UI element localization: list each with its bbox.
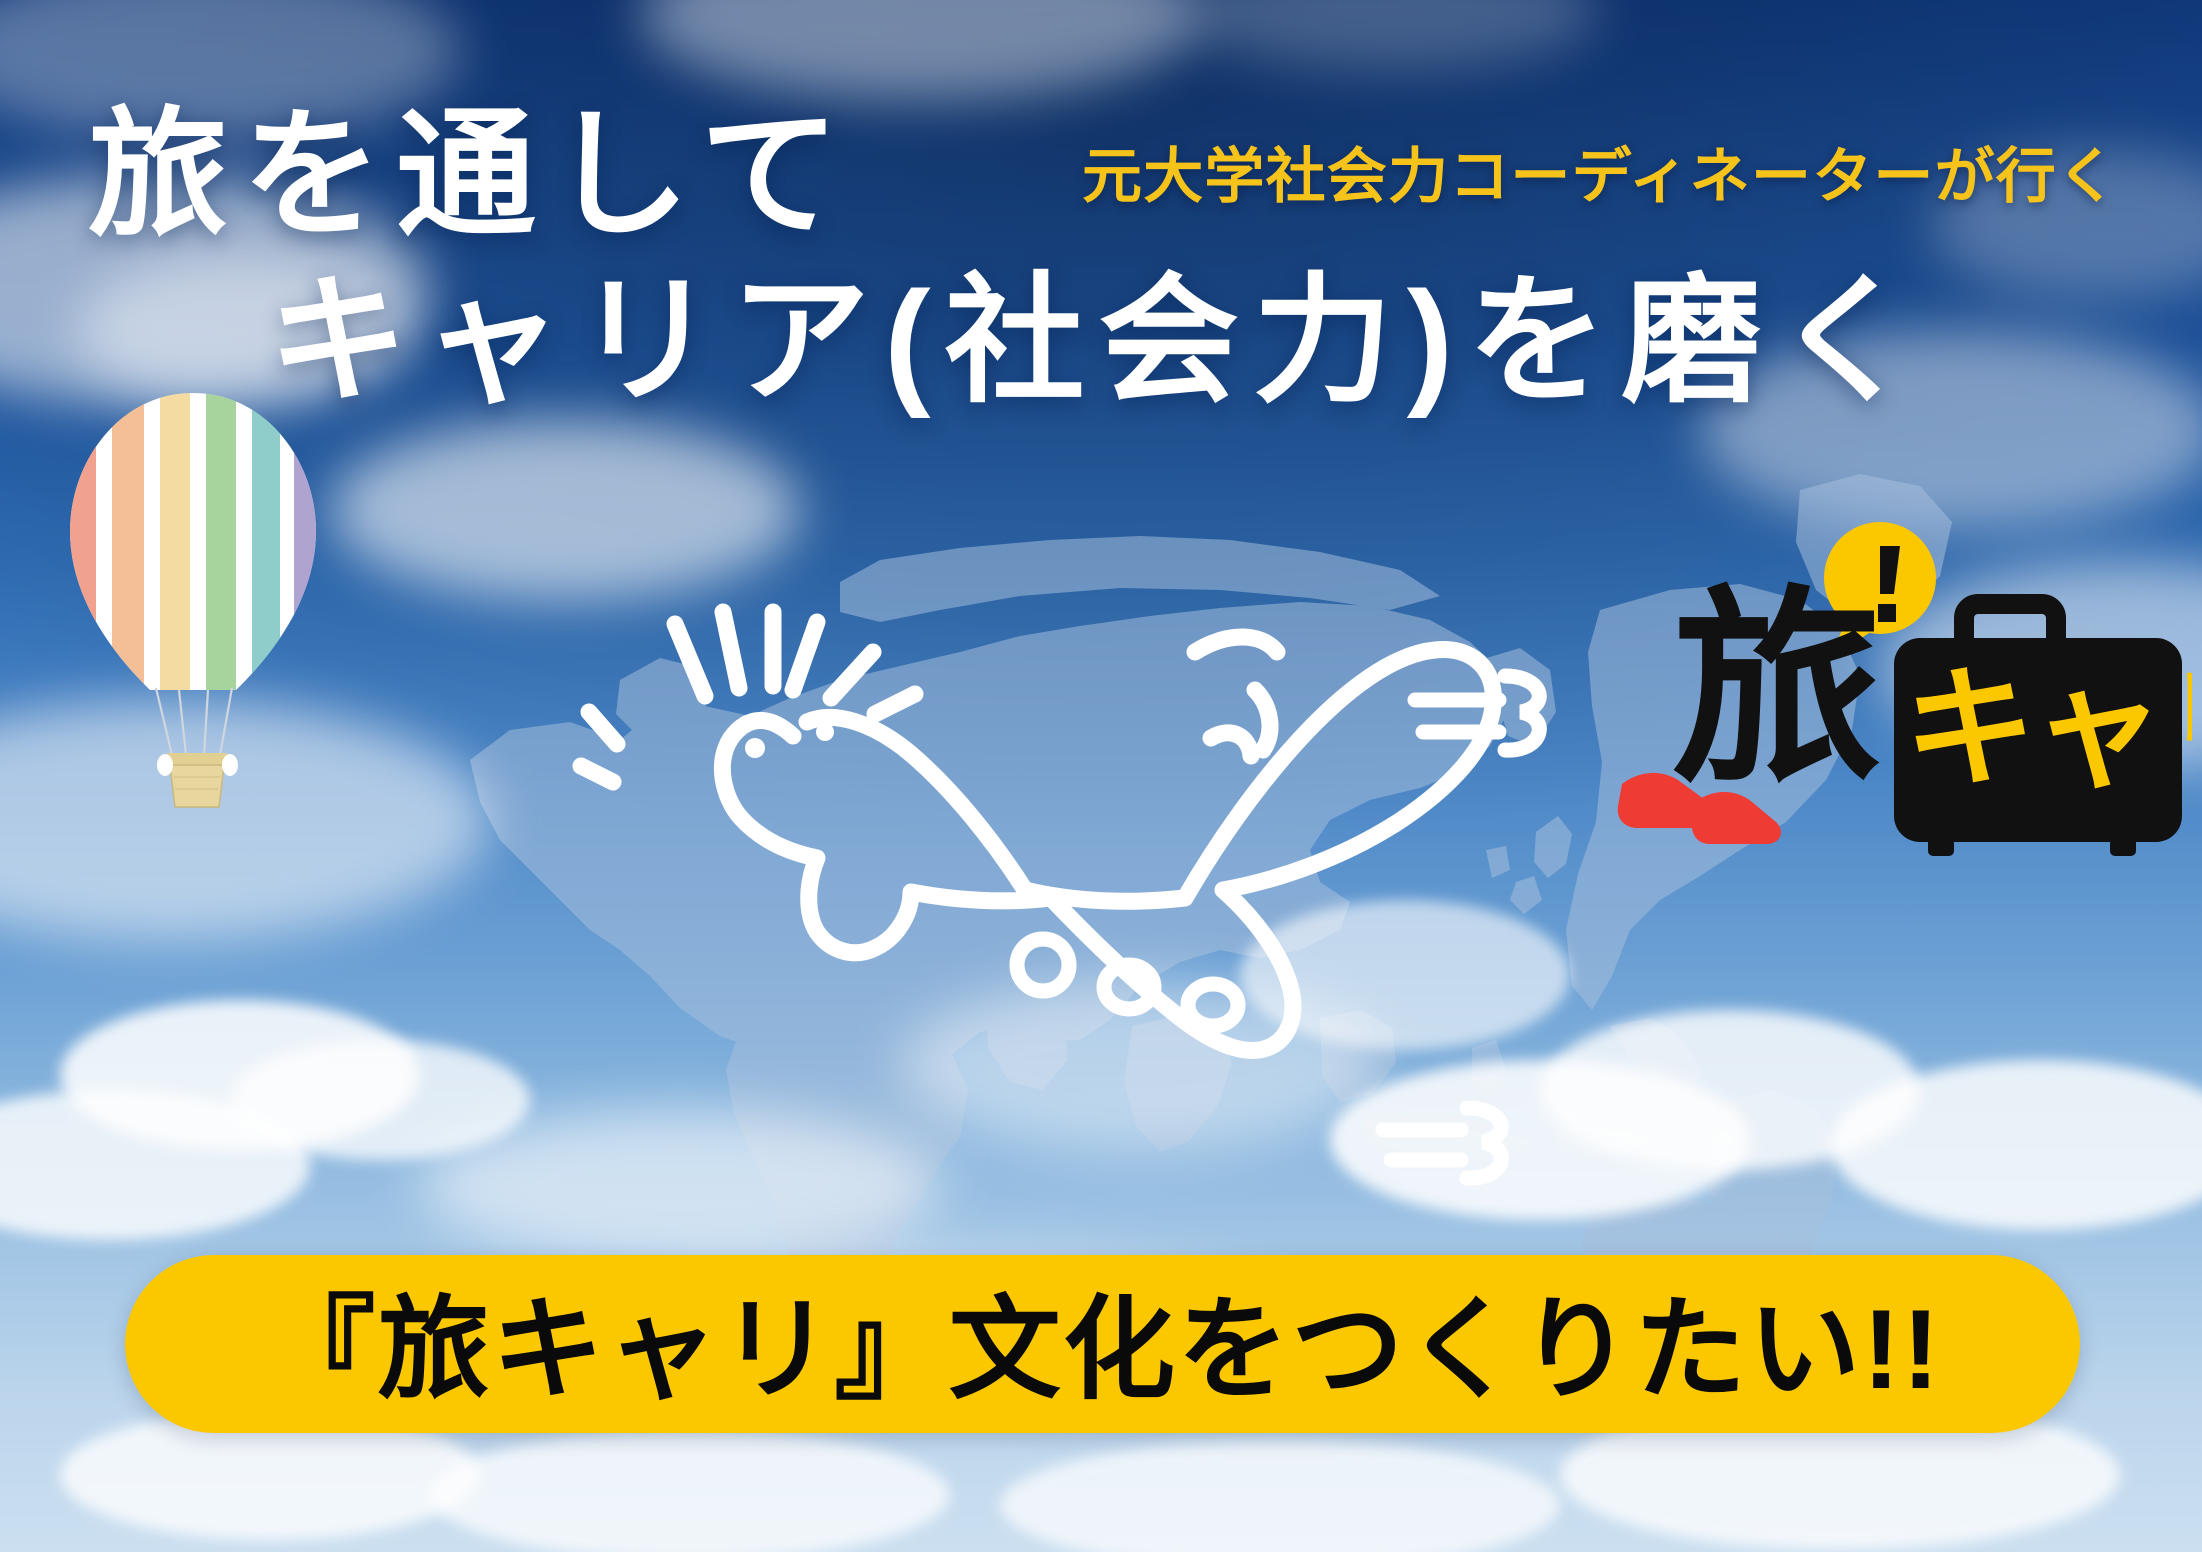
cloud-puff <box>430 1430 950 1552</box>
logo-katakana: キャリ <box>1904 655 2192 802</box>
airplane-doodle-icon <box>555 500 1585 1200</box>
cloud-wisp <box>75 255 405 405</box>
hot-air-balloon-icon <box>48 385 338 815</box>
bottom-banner: 『旅キャリ』文化をつくりたい!! <box>125 1255 2080 1433</box>
poster-root: 旅を通して キャリア(社会力)を磨く 元大学社会力コーディネーターが行く <box>0 0 2202 1552</box>
banner-text: 『旅キャリ』文化をつくりたい!! <box>263 1259 1941 1421</box>
logo-kanji: 旅 <box>1672 572 1882 807</box>
tabicyari-logo: 旅 キャリ <box>1612 512 2192 862</box>
